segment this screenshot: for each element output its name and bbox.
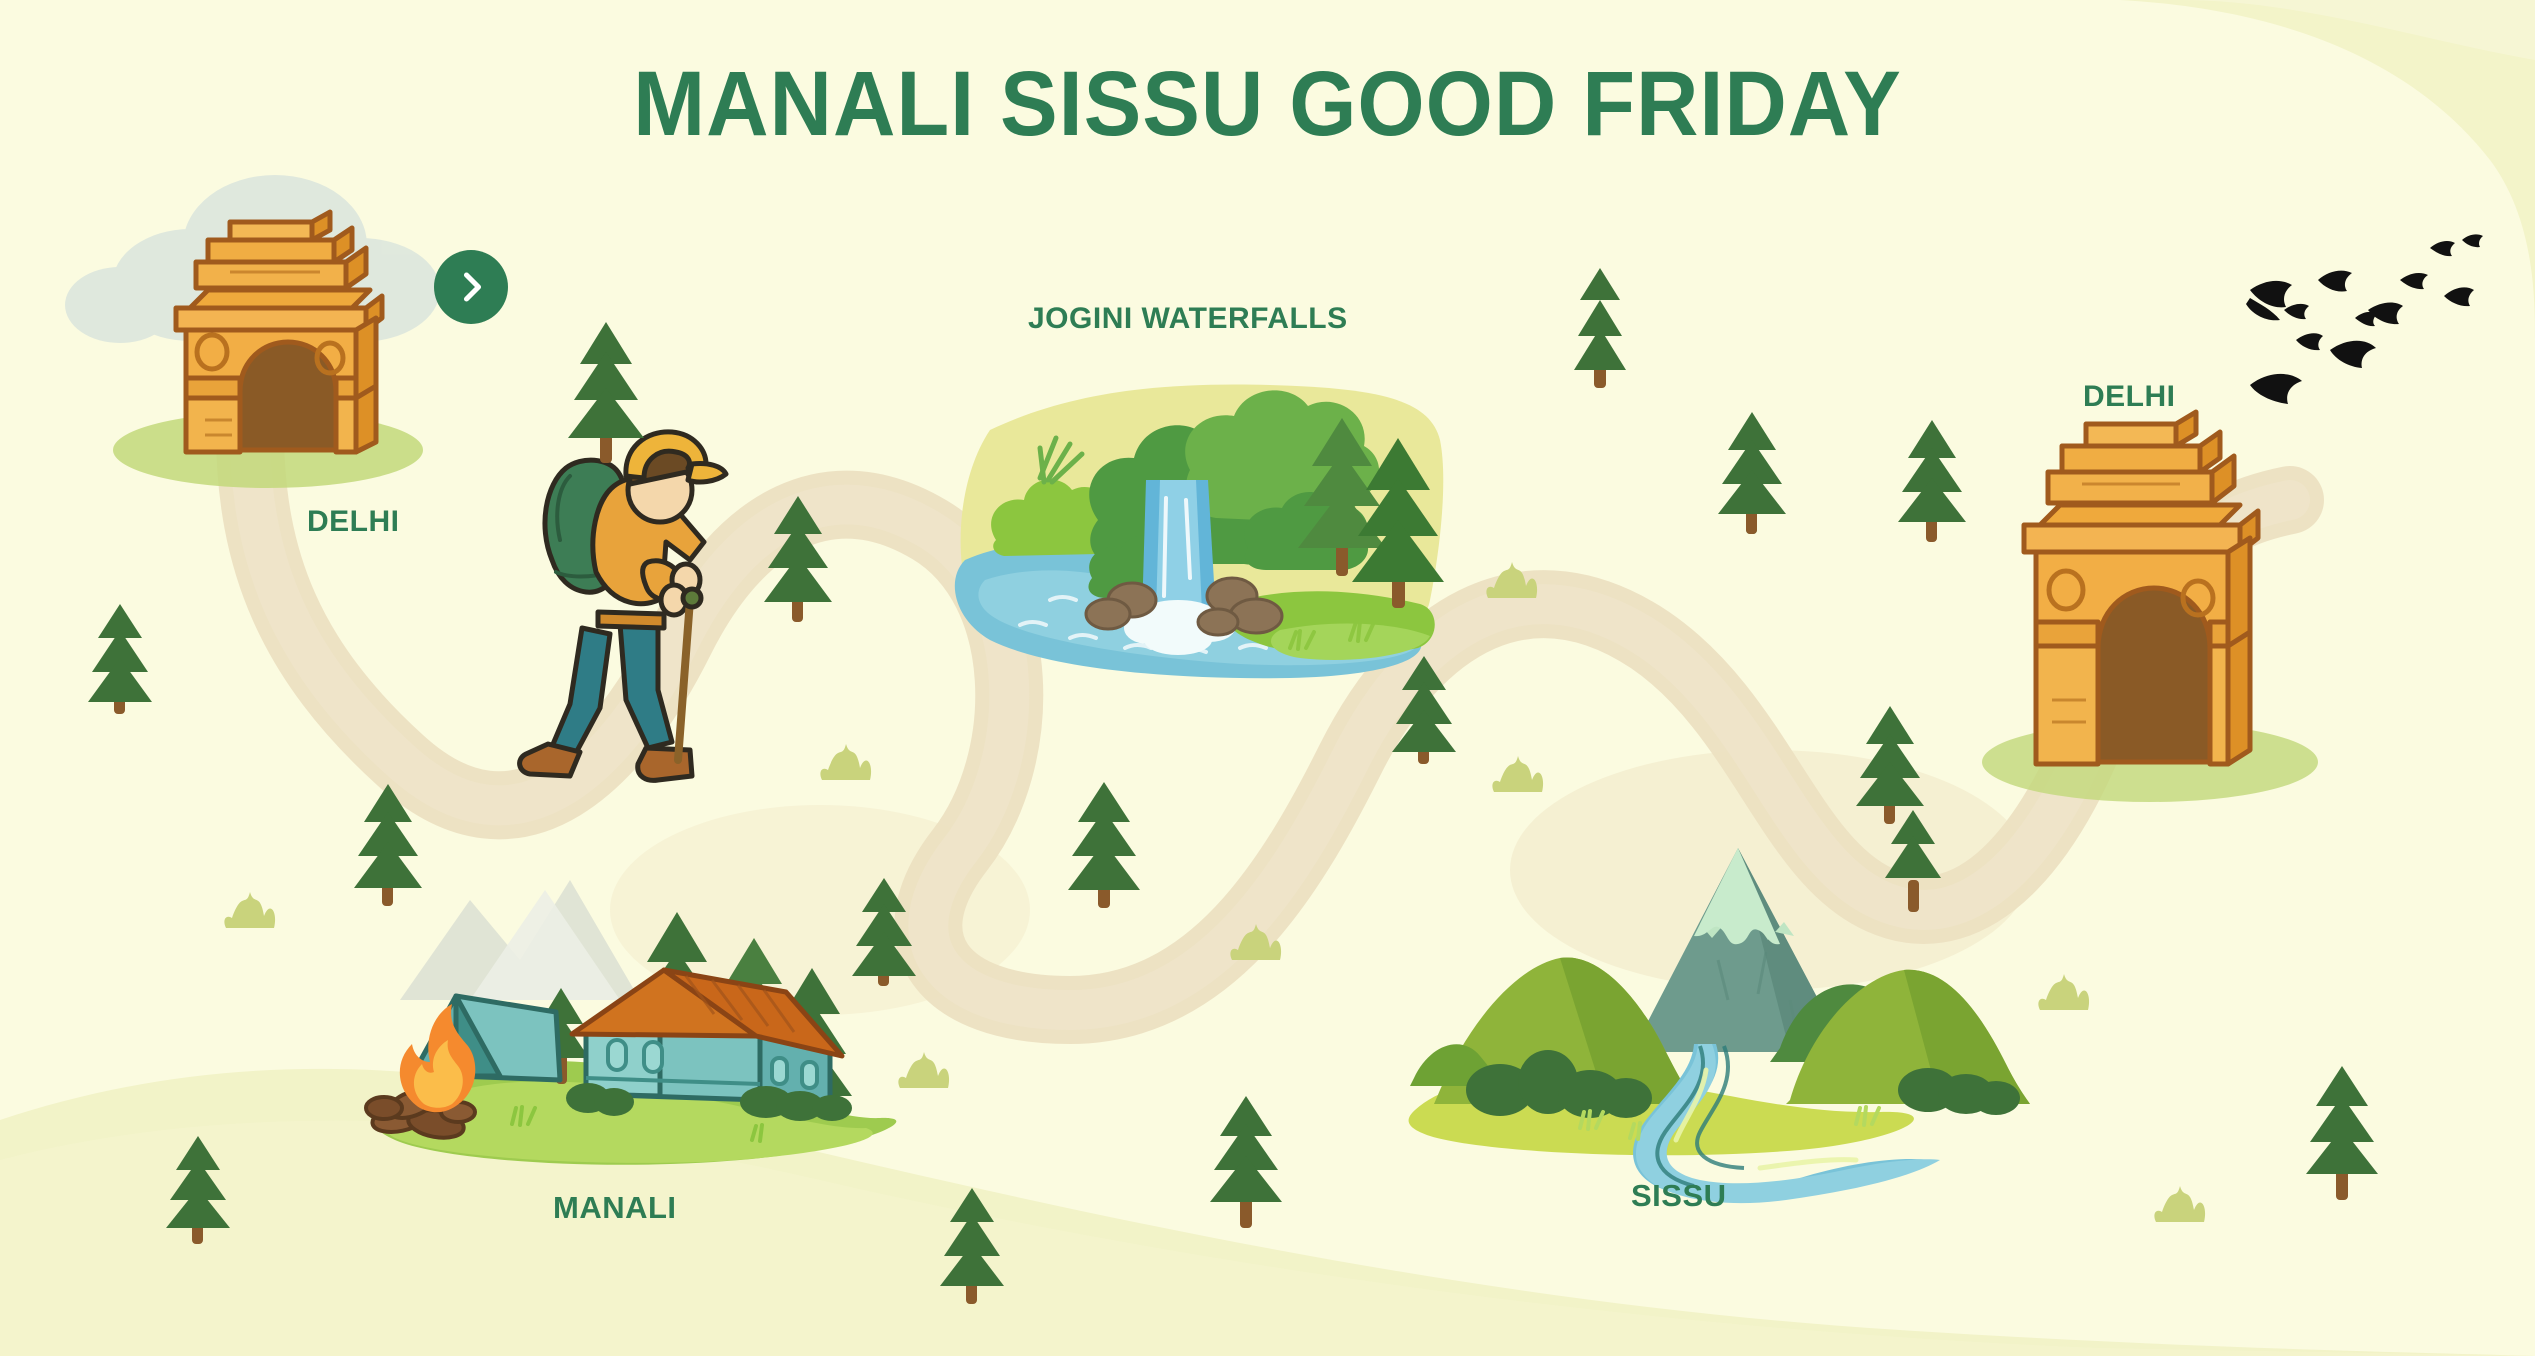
- grass-tuft-scatter: [0, 0, 2535, 1356]
- stop-label-delhi-right: DELHI: [2083, 380, 2176, 414]
- page-title: MANALI SISSU GOOD FRIDAY: [76, 52, 2459, 157]
- itinerary-poster: MANALI SISSU GOOD FRIDAY DELHI JOGINI WA…: [0, 0, 2535, 1356]
- stop-label-manali: MANALI: [553, 1190, 677, 1226]
- stop-label-jogini: JOGINI WATERFALLS: [1028, 302, 1348, 336]
- stop-label-sissu: SISSU: [1631, 1178, 1727, 1214]
- stop-label-delhi-left: DELHI: [307, 505, 400, 539]
